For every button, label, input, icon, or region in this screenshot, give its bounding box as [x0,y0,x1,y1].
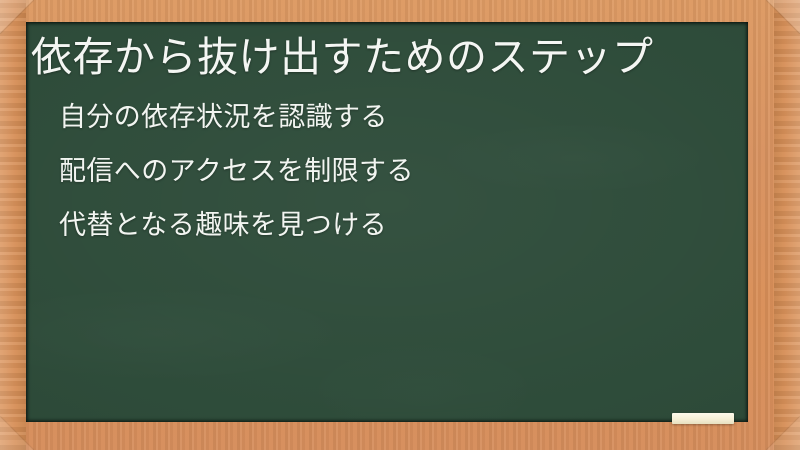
page-title: 依存から抜け出すためのステップ [31,34,654,82]
list-item: 代替となる趣味を見つける [59,212,414,239]
chalkboard: 依存から抜け出すためのステップ 自分の依存状況を認識する 配信へのアクセスを制限… [26,22,748,422]
board-content: 依存から抜け出すためのステップ 自分の依存状況を認識する 配信へのアクセスを制限… [26,22,748,422]
chalk-stick-icon [672,413,734,424]
steps-list: 自分の依存状況を認識する 配信へのアクセスを制限する 代替となる趣味を見つける [59,104,414,239]
chalkboard-slide: 依存から抜け出すためのステップ 自分の依存状況を認識する 配信へのアクセスを制限… [0,0,800,450]
frame-left-rail [0,0,26,450]
list-item: 配信へのアクセスを制限する [59,158,414,185]
frame-right-rail [774,0,800,450]
list-item: 自分の依存状況を認識する [59,104,414,131]
